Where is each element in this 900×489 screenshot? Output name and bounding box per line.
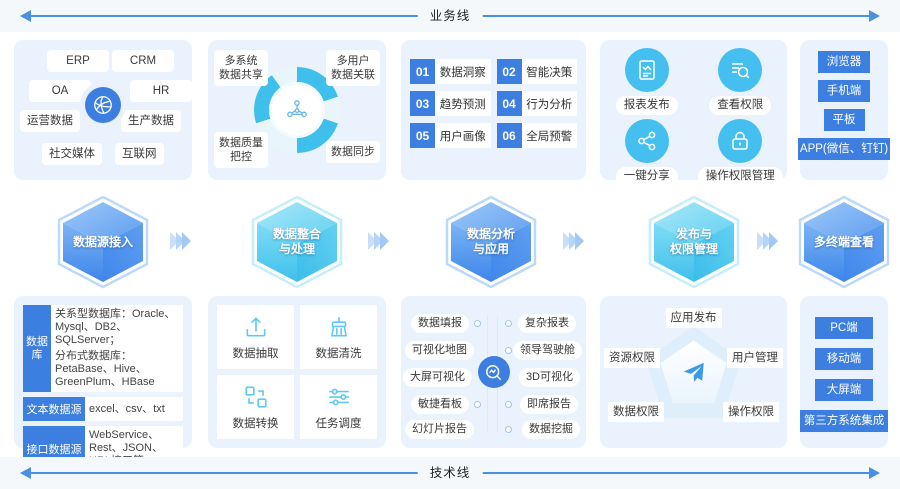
analysis-item-label: 全局预警 [522, 123, 578, 148]
processing-item-transform[interactable]: 数据转换 [217, 375, 294, 439]
radial-dot [474, 320, 481, 327]
terminal-chip-browser[interactable]: 浏览器 [818, 51, 871, 73]
transform-convert-icon [243, 384, 269, 410]
technology-line-axis: 技术线 [0, 457, 900, 489]
application-item-data-mining[interactable]: 数据挖掘 [522, 420, 580, 439]
axis-arrow-right-icon [869, 467, 880, 479]
processing-icon-grid: 数据抽取 数据清洗 数据转换 [217, 305, 377, 439]
client-chip-bigscreen[interactable]: 大屏端 [815, 379, 873, 401]
source-tag-hr[interactable]: HR [130, 80, 192, 102]
analytics-search-icon [478, 356, 510, 388]
integration-quadrant-multi-system[interactable]: 多系统 数据共享 [214, 50, 268, 86]
analysis-item-number: 03 [410, 91, 435, 116]
technology-line-label: 技术线 [418, 460, 483, 486]
report-document-icon [625, 48, 669, 92]
analysis-item-label: 趋势预测 [435, 91, 491, 116]
client-chip-third-party[interactable]: 第三方系统集成 [800, 410, 888, 432]
application-item-bigscreen-visual[interactable]: 大屏可视化 [403, 368, 472, 387]
infographic-root: 业务线 ERP CRM OA HR 运营数据 生产数据 社交媒体 互联网 [0, 0, 900, 489]
flow-chevron-1-icon [170, 232, 188, 250]
stage-hex-label: 数据源接入 [55, 194, 151, 290]
stage-hex-data-integration[interactable]: 数据整合与处理 [249, 194, 345, 290]
table-row[interactable]: 数据库 关系型数据库：Oracle、Mysql、DB2、SQLServer； 分… [23, 305, 183, 392]
processing-item-clean[interactable]: 数据清洗 [300, 305, 377, 369]
axis-arrow-left-icon [20, 10, 31, 22]
application-item-complex-report[interactable]: 复杂报表 [518, 314, 576, 333]
stage-hex-multi-terminal[interactable]: 多终端查看 [796, 194, 892, 290]
application-item-slide-report[interactable]: 幻灯片报告 [405, 420, 474, 439]
analysis-item-number: 04 [497, 91, 522, 116]
processing-item-label: 数据清洗 [316, 345, 362, 361]
panel-data-sources: ERP CRM OA HR 运营数据 生产数据 社交媒体 互联网 [14, 40, 192, 180]
publish-item-share[interactable]: 一键分享 [600, 119, 694, 186]
processing-item-label: 数据转换 [233, 415, 279, 431]
analysis-item[interactable]: 02 智能决策 [497, 59, 578, 84]
radial-dot [505, 320, 512, 327]
panel-client-types: PC端 移动端 大屏端 第三方系统集成 [800, 296, 888, 448]
radial-dot [505, 401, 512, 408]
stage-hex-data-source-access[interactable]: 数据源接入 [55, 194, 151, 290]
client-chip-pc[interactable]: PC端 [815, 317, 873, 339]
bottom-row: 数据库 关系型数据库：Oracle、Mysql、DB2、SQLServer； 分… [0, 296, 900, 452]
source-tag-internet[interactable]: 互联网 [115, 143, 164, 165]
analysis-item-label: 数据洞察 [435, 59, 491, 84]
application-item-adhoc-report[interactable]: 即席报告 [520, 395, 578, 414]
integration-quadrant-data-sync[interactable]: 数据同步 [326, 141, 380, 163]
source-tag-production-data[interactable]: 生产数据 [121, 110, 181, 132]
radial-dot [505, 426, 512, 433]
terminal-chip-list: 浏览器 手机端 平板 APP(微信、钉钉) [800, 40, 888, 160]
processing-item-label: 数据抽取 [233, 345, 279, 361]
stage-hex-publish-permission[interactable]: 发布与权限管理 [646, 194, 742, 290]
permissions-pentagon-diagram: 应用发布 资源权限 用户管理 数据权限 操作权限 [600, 296, 787, 448]
application-item-executive-cockpit[interactable]: 领导驾驶舱 [513, 341, 582, 360]
stage-hex-label: 数据分析与应用 [443, 194, 539, 290]
permission-item-resource[interactable]: 资源权限 [604, 348, 660, 368]
panel-datasource-detail: 数据库 关系型数据库：Oracle、Mysql、DB2、SQLServer； 分… [14, 296, 192, 448]
panel-data-analysis: 01 数据洞察 02 智能决策 03 趋势预测 04 行为分析 05 用户画 [401, 40, 586, 180]
publish-item-label: 一键分享 [616, 167, 678, 186]
radial-dot [505, 347, 512, 354]
analysis-item-number: 06 [497, 123, 522, 148]
analysis-item[interactable]: 03 趋势预测 [410, 91, 491, 116]
analysis-item-number: 05 [410, 123, 435, 148]
share-nodes-icon [625, 119, 669, 163]
processing-item-extract[interactable]: 数据抽取 [217, 305, 294, 369]
upload-box-icon [243, 314, 269, 340]
datasource-row-value: excel、csv、txt [85, 397, 183, 421]
publish-item-label: 查看权限 [709, 96, 771, 115]
analysis-item[interactable]: 06 全局预警 [497, 123, 578, 148]
publish-item-operation-permission[interactable]: 操作权限管理 [694, 119, 788, 186]
application-item-3d-visual[interactable]: 3D可视化 [519, 368, 580, 387]
table-row[interactable]: 文本数据源 excel、csv、txt [23, 397, 183, 421]
source-tag-crm[interactable]: CRM [112, 50, 174, 72]
terminal-chip-mobile[interactable]: 手机端 [818, 80, 871, 102]
processing-item-schedule[interactable]: 任务调度 [300, 375, 377, 439]
client-chip-list: PC端 移动端 大屏端 第三方系统集成 [800, 296, 888, 432]
publish-icon-grid: 报表发布 查看权限 [600, 48, 787, 186]
publish-item-view-permission[interactable]: 查看权限 [694, 48, 788, 115]
analysis-item-label: 智能决策 [522, 59, 578, 84]
flow-chevron-3-icon [563, 232, 581, 250]
analysis-item-number: 01 [410, 59, 435, 84]
business-line-axis: 业务线 [0, 0, 900, 32]
broom-clean-icon [326, 314, 352, 340]
analysis-item-label: 行为分析 [522, 91, 578, 116]
datasource-table: 数据库 关系型数据库：Oracle、Mysql、DB2、SQLServer； 分… [23, 305, 183, 476]
publish-item-label: 操作权限管理 [698, 167, 783, 186]
source-tag-erp[interactable]: ERP [47, 50, 109, 72]
stage-flow-row: 数据源接入 数据整合与处理 [0, 192, 900, 292]
permission-item-data[interactable]: 数据权限 [608, 402, 664, 422]
publish-item-label: 报表发布 [616, 96, 678, 115]
applications-radial: 数据填报 可视化地图 大屏可视化 敏捷看板 幻灯片报告 复杂报表 领导驾驶舱 3… [401, 296, 586, 448]
sliders-schedule-icon [326, 384, 352, 410]
integration-quadrant-data-quality[interactable]: 数据质量 把控 [214, 132, 268, 168]
top-row: ERP CRM OA HR 运营数据 生产数据 社交媒体 互联网 [0, 40, 900, 188]
stage-hex-data-analysis[interactable]: 数据分析与应用 [443, 194, 539, 290]
axis-arrow-left-icon [20, 467, 31, 479]
radial-dot [474, 401, 481, 408]
analysis-item-grid: 01 数据洞察 02 智能决策 03 趋势预测 04 行为分析 05 用户画 [410, 59, 577, 148]
application-item-visual-map[interactable]: 可视化地图 [405, 341, 474, 360]
stage-hex-label: 多终端查看 [796, 194, 892, 290]
panel-permissions: 应用发布 资源权限 用户管理 数据权限 操作权限 [600, 296, 787, 448]
stage-hex-label: 发布与权限管理 [646, 194, 742, 290]
axis-arrow-right-icon [869, 10, 880, 22]
flow-chevron-2-icon [368, 232, 386, 250]
publish-item-report[interactable]: 报表发布 [600, 48, 694, 115]
application-item-data-fill[interactable]: 数据填报 [411, 314, 469, 333]
permission-item-operation[interactable]: 操作权限 [723, 402, 779, 422]
panel-data-integration: 多系统 数据共享 多用户 数据关联 数据质量 把控 数据同步 [208, 40, 386, 180]
panel-terminals: 浏览器 手机端 平板 APP(微信、钉钉) [800, 40, 888, 180]
permission-item-user-management[interactable]: 用户管理 [727, 348, 783, 368]
terminal-chip-tablet[interactable]: 平板 [824, 109, 865, 131]
stage-hex-label: 数据整合与处理 [249, 194, 345, 290]
integration-quadrant-multi-user[interactable]: 多用户 数据关联 [326, 50, 380, 86]
datasource-row-key: 数据库 [23, 305, 51, 392]
analysis-item[interactable]: 04 行为分析 [497, 91, 578, 116]
analysis-item-number: 02 [497, 59, 522, 84]
business-line-label: 业务线 [418, 3, 483, 29]
panel-data-processing: 数据抽取 数据清洗 数据转换 [208, 296, 386, 448]
terminal-chip-app[interactable]: APP(微信、钉钉) [798, 138, 890, 160]
analysis-item[interactable]: 05 用户画像 [410, 123, 491, 148]
source-tag-social-media[interactable]: 社交媒体 [42, 143, 102, 165]
datasource-row-key: 文本数据源 [23, 397, 85, 421]
analysis-item-label: 用户画像 [435, 123, 491, 148]
analysis-item[interactable]: 01 数据洞察 [410, 59, 491, 84]
processing-item-label: 任务调度 [316, 415, 362, 431]
application-item-agile-dashboard[interactable]: 敏捷看板 [411, 395, 469, 414]
lock-icon [718, 119, 762, 163]
datasource-row-value: 关系型数据库：Oracle、Mysql、DB2、SQLServer； 分布式数据… [51, 305, 183, 392]
globe-network-icon [80, 82, 126, 128]
search-view-icon [718, 48, 762, 92]
source-tag-operation-data[interactable]: 运营数据 [20, 110, 80, 132]
client-chip-mobile[interactable]: 移动端 [815, 348, 873, 370]
permission-item-app-publish[interactable]: 应用发布 [666, 308, 722, 328]
panel-publish-permissions: 报表发布 查看权限 [600, 40, 787, 180]
panel-data-applications: 数据填报 可视化地图 大屏可视化 敏捷看板 幻灯片报告 复杂报表 领导驾驶舱 3… [401, 296, 586, 448]
flow-chevron-4-icon [757, 232, 775, 250]
